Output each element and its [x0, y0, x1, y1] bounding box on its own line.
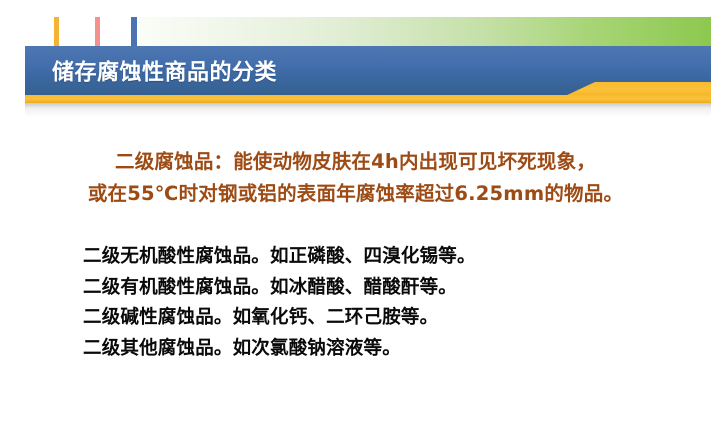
- orange-underline-strip: [25, 95, 711, 103]
- orange-tick-mark: [54, 17, 59, 46]
- page-title: 储存腐蚀性商品的分类: [52, 54, 277, 86]
- slide-root: 储存腐蚀性商品的分类 二级腐蚀品：能使动物皮肤在4h内出现可见坏死现象， 或在5…: [0, 0, 711, 429]
- list-item: 二级无机酸性腐蚀品。如正磷酸、四溴化锡等。: [83, 242, 683, 273]
- list-item: 二级有机酸性腐蚀品。如冰醋酸、醋酸酐等。: [83, 273, 683, 304]
- green-gradient-bar: [138, 17, 711, 46]
- pink-tick-mark: [95, 17, 100, 46]
- slide-body: 二级腐蚀品：能使动物皮肤在4h内出现可见坏死现象， 或在55℃时对钢或铝的表面年…: [0, 118, 711, 429]
- blue-tick-mark: [131, 17, 137, 46]
- header-decorative-band: [0, 17, 711, 46]
- category-list: 二级无机酸性腐蚀品。如正磷酸、四溴化锡等。 二级有机酸性腐蚀品。如冰醋酸、醋酸酐…: [83, 242, 683, 364]
- definition-line-1: 二级腐蚀品：能使动物皮肤在4h内出现可见坏死现象，: [0, 146, 711, 178]
- list-item: 二级其他腐蚀品。如次氯酸钠溶液等。: [83, 334, 683, 365]
- definition-block: 二级腐蚀品：能使动物皮肤在4h内出现可见坏死现象， 或在55℃时对钢或铝的表面年…: [0, 146, 711, 210]
- list-item: 二级碱性腐蚀品。如氧化钙、二环己胺等。: [83, 303, 683, 334]
- header-drop-shadow: [25, 103, 711, 117]
- definition-line-2: 或在55℃时对钢或铝的表面年腐蚀率超过6.25mm的物品。: [0, 178, 711, 210]
